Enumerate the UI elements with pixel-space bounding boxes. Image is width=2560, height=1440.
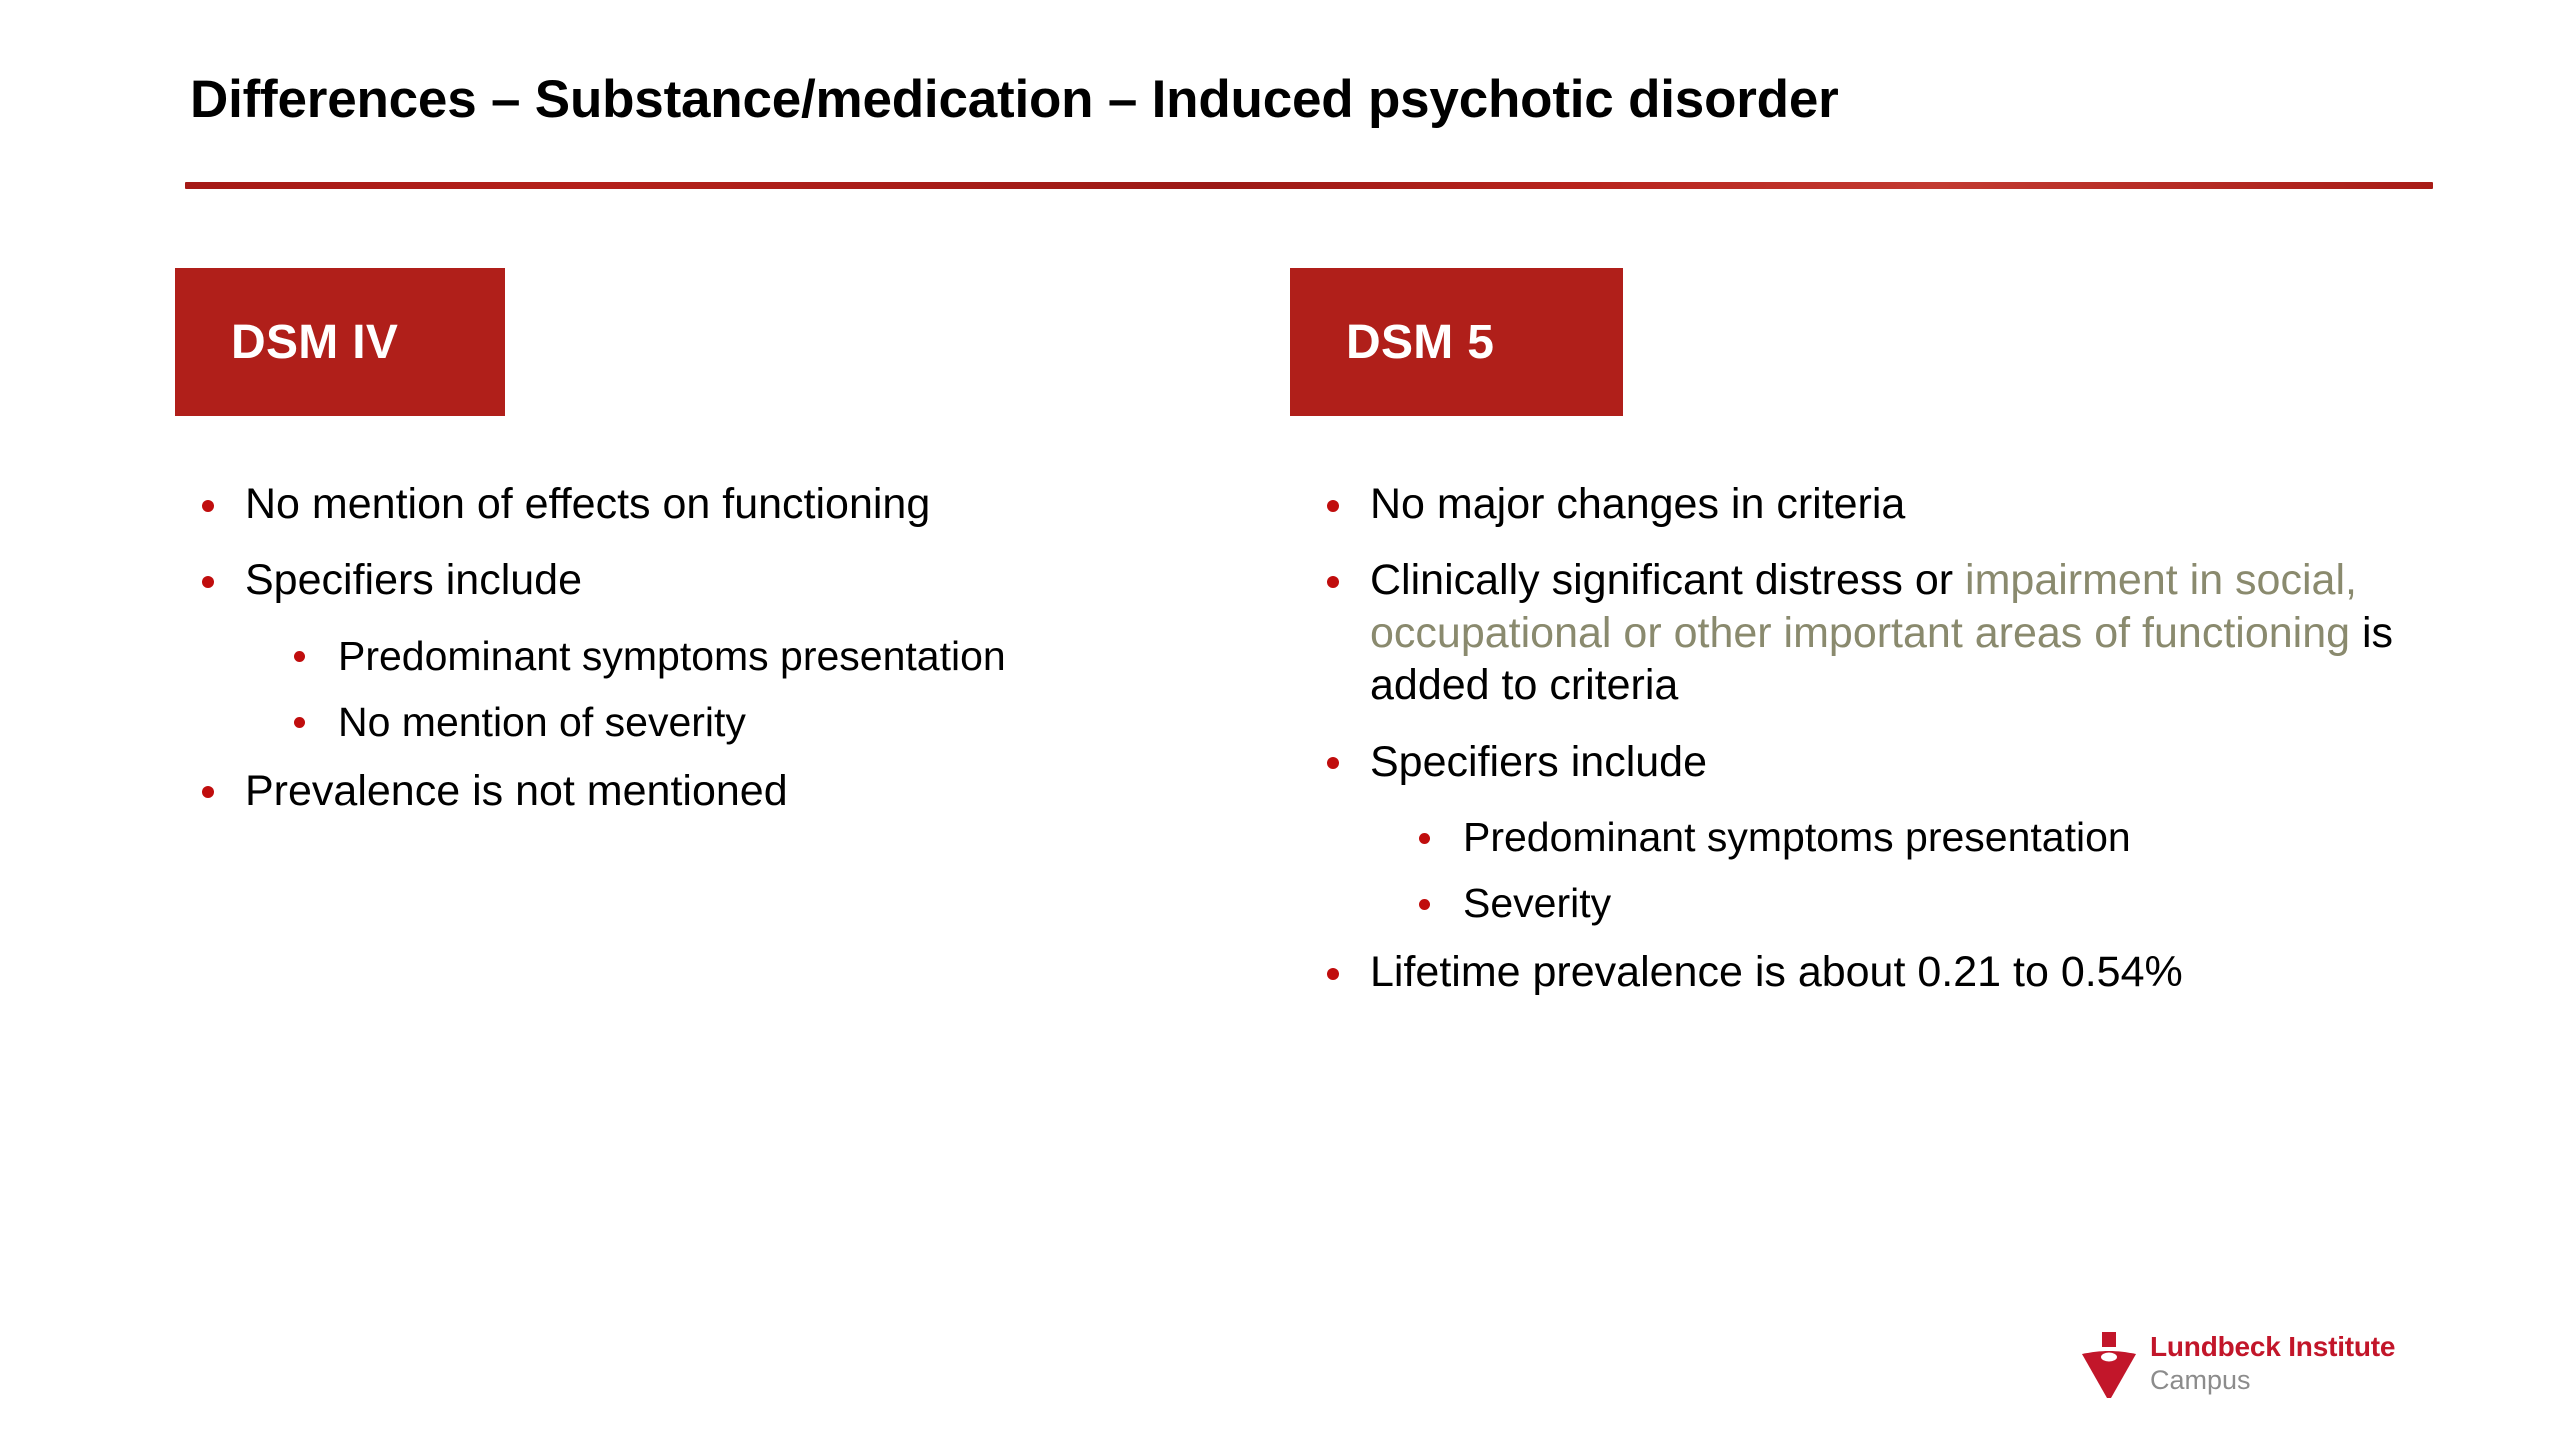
title-underline-rule [185,182,2433,189]
lundbeck-funnel-mark-icon [2082,1332,2136,1398]
column-header-dsm-5: DSM 5 [1290,268,1623,416]
bullet-dot-icon [1419,833,1430,844]
list-item: Prevalence is not mentioned [180,765,1260,817]
list-item: Predominant symptoms presentation [1305,812,2470,862]
bullet-dot-icon [294,717,305,728]
list-item: Predominant symptoms presentation [180,631,1260,681]
page-title: Differences – Substance/medication – Ind… [190,70,2440,131]
column-header-dsm-iv-label: DSM IV [231,315,398,370]
list-item-text: Specifiers include [245,556,582,604]
bullet-dot-icon [1327,576,1339,588]
list-item: No mention of severity [180,697,1260,747]
list-item-text: Prevalence is not mentioned [245,767,788,815]
column-header-dsm-iv: DSM IV [175,268,505,416]
list-item-text-segment-1: Clinically significant distress or [1370,556,1965,604]
list-item: Clinically significant distress or impai… [1305,554,2470,711]
list-item-text: No mention of effects on functioning [245,480,930,528]
list-item: Specifiers include [180,554,1260,606]
list-item-text: Predominant symptoms presentation [1463,814,2131,860]
list-item-text: Predominant symptoms presentation [338,633,1006,679]
list-item-text: Lifetime prevalence is about 0.21 to 0.5… [1370,948,2183,996]
bullet-dot-icon [294,651,305,662]
list-item: Severity [1305,878,2470,928]
lundbeck-institute-campus-logo: Lundbeck Institute Campus [2082,1332,2482,1407]
list-item: Specifiers include [1305,736,2470,788]
bullet-list-dsm-iv: No mention of effects on functioning Spe… [180,478,1260,841]
logo-line-2: Campus [2150,1365,2395,1396]
list-item-text: Severity [1463,880,1611,926]
bullet-list-dsm-5: No major changes in criteria Clinically … [1305,478,2470,1023]
list-item: No mention of effects on functioning [180,478,1260,530]
bullet-dot-icon [1327,757,1339,769]
list-item: Lifetime prevalence is about 0.21 to 0.5… [1305,946,2470,998]
slide-canvas: Differences – Substance/medication – Ind… [0,0,2560,1440]
list-item: No major changes in criteria [1305,478,2470,530]
bullet-dot-icon [1419,899,1430,910]
bullet-dot-icon [202,500,214,512]
list-item-text: No mention of severity [338,699,746,745]
bullet-dot-icon [1327,968,1339,980]
column-header-dsm-5-label: DSM 5 [1346,315,1494,370]
list-item-text: Specifiers include [1370,738,1707,786]
list-item-text: No major changes in criteria [1370,480,1905,528]
logo-line-1: Lundbeck Institute [2150,1332,2395,1363]
bullet-dot-icon [1327,500,1339,512]
bullet-dot-icon [202,786,214,798]
bullet-dot-icon [202,576,214,588]
logo-wordmark: Lundbeck Institute Campus [2150,1332,2395,1396]
